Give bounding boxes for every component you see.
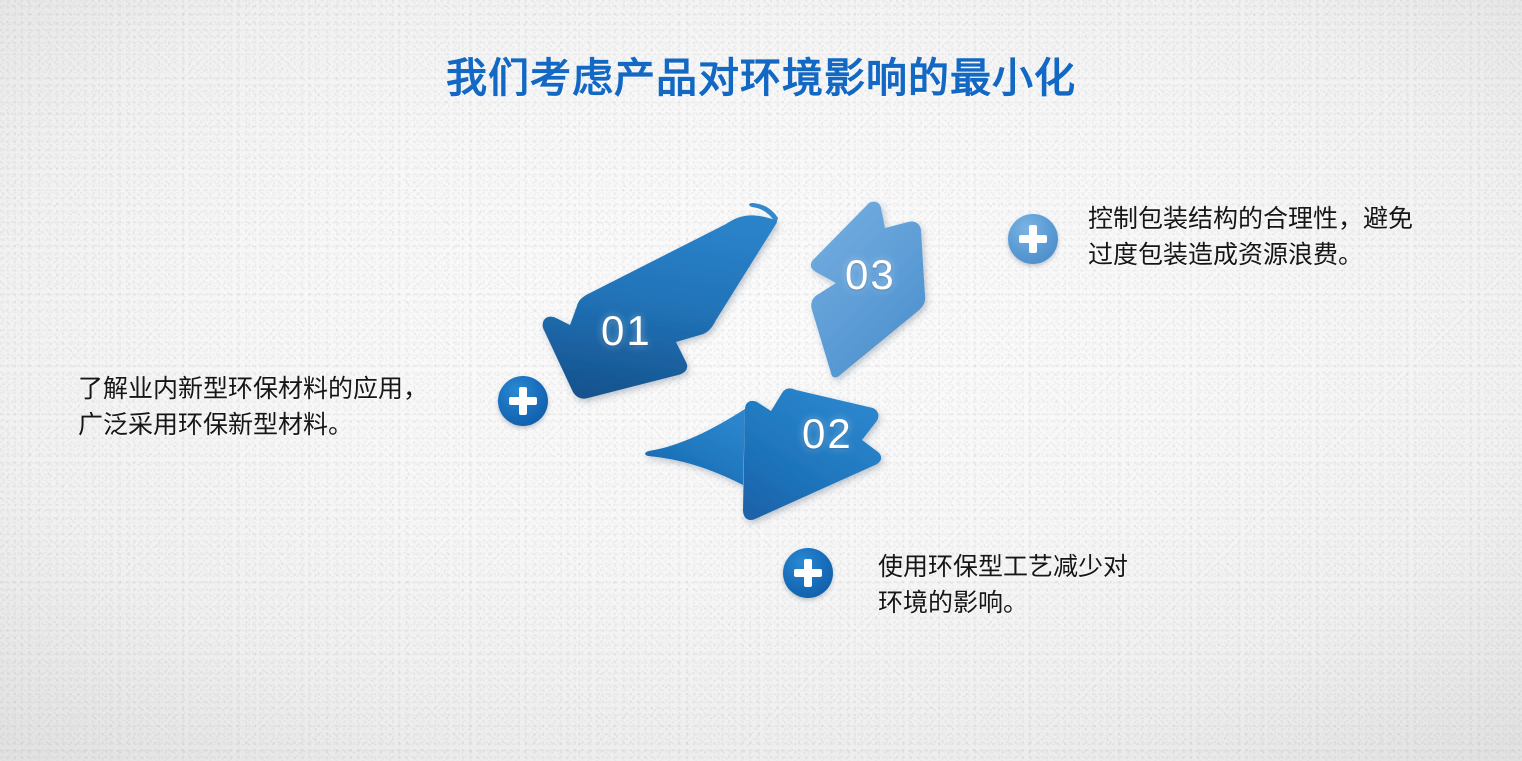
item-02-text: 使用环保型工艺减少对 环境的影响。 [878,550,1218,621]
item-03-text: 控制包装结构的合理性，避免 过度包装造成资源浪费。 [1088,202,1508,273]
item-01-text: 了解业内新型环保材料的应用， 广泛采用环保新型材料。 [78,372,498,443]
plus-icon-item-03[interactable] [1008,214,1058,264]
arrow-03-shape [811,202,925,378]
recycle-cycle-diagram [540,190,1010,550]
slide-canvas: 我们考虑产品对环境影响的最小化 [0,0,1522,761]
plus-icon-item-01[interactable] [498,376,548,426]
arrow-01-shape [543,215,777,398]
arrow-02-shape [645,388,881,520]
page-title: 我们考虑产品对环境影响的最小化 [0,44,1522,104]
plus-icon-item-02[interactable] [783,548,833,598]
